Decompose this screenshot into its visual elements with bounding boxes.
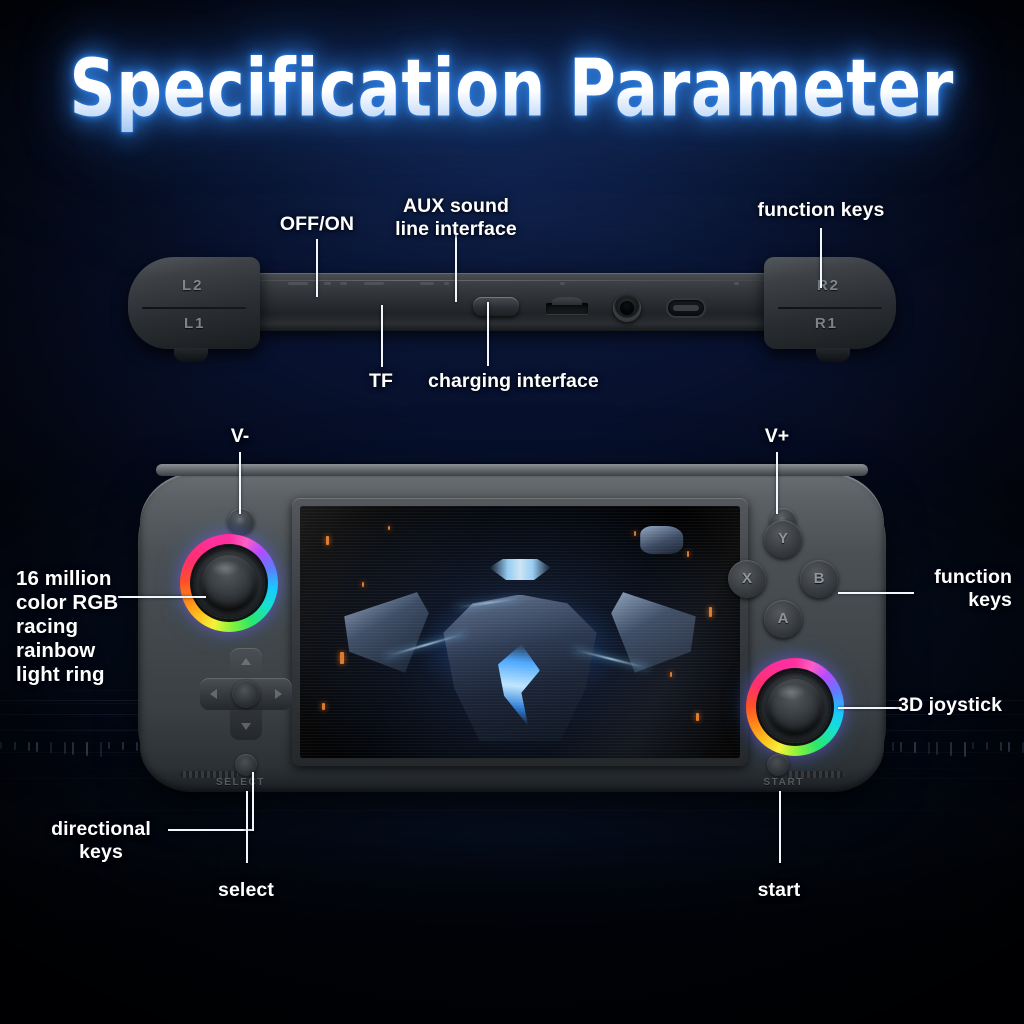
shoulder-seam-left (142, 307, 246, 309)
vent-slot (324, 282, 331, 285)
vent-slot (444, 282, 449, 285)
vent-slot (364, 282, 384, 285)
device-top-edge (156, 464, 868, 476)
callout-start: start (731, 879, 827, 902)
joystick-highlight (776, 684, 806, 700)
artwork-knight (357, 521, 683, 758)
right-joystick-3d[interactable] (746, 658, 844, 756)
aux-audio-jack[interactable] (613, 294, 641, 322)
callout-charging-interface: charging interface (428, 370, 658, 393)
speaker-grille (786, 771, 844, 778)
callout-off-on: OFF/ON (243, 213, 391, 236)
button-a[interactable]: A (764, 600, 802, 638)
dpad-left-icon (210, 689, 217, 699)
dpad-down-icon (241, 723, 251, 730)
leader-aux (455, 234, 457, 302)
vent-slot (420, 282, 434, 285)
dpad-right-icon (275, 689, 282, 699)
dpad-center (232, 680, 260, 708)
device-foot (816, 348, 850, 362)
leader-directional-v (252, 772, 254, 831)
leader-start (779, 791, 781, 863)
button-y[interactable]: Y (764, 520, 802, 558)
button-b[interactable]: B (800, 560, 838, 598)
device-body: Y X B A SELECT START (140, 472, 884, 792)
grip-right (764, 257, 896, 349)
leader-3d-joystick (838, 707, 902, 709)
artwork-pauldron-left (344, 592, 429, 673)
leader-directional-h (168, 829, 254, 831)
callout-tf: TF (344, 370, 418, 393)
callout-3d-joystick: 3D joystick (898, 694, 1024, 717)
volume-down-button[interactable] (228, 508, 254, 534)
leader-tf (381, 305, 383, 367)
vent-slot (560, 282, 565, 285)
leader-func-top (820, 228, 822, 288)
vent-slot (288, 282, 308, 285)
artwork-fist (640, 526, 682, 554)
device-foot (174, 348, 208, 362)
callout-aux-sound-line-interface: AUX sound line interface (370, 195, 542, 241)
callout-directional-keys: directional keys (28, 818, 174, 864)
page-title-wrap: Specification Parameter (0, 52, 1024, 125)
screen-bezel (292, 498, 748, 766)
leader-charging (487, 302, 489, 366)
screen-artwork (300, 506, 740, 758)
page-title: Specification Parameter (70, 43, 954, 135)
vent-slot (340, 282, 347, 285)
joystick-highlight (210, 560, 240, 576)
button-l2-label: L2 (182, 277, 204, 294)
shoulder-seam-right (778, 307, 882, 309)
button-l1-label: L1 (184, 315, 206, 332)
callout-volume-up: V+ (745, 425, 809, 448)
leader-select (246, 791, 248, 863)
callout-rgb-light-ring: 16 million color RGB racing rainbow ligh… (16, 567, 148, 687)
game-screen[interactable] (300, 506, 740, 758)
start-button-label: START (763, 777, 804, 788)
tf-card-slot[interactable] (546, 303, 588, 314)
leader-off-on (316, 239, 318, 297)
callout-volume-down: V- (208, 425, 272, 448)
infographic-canvas: Specification Parameter L2 L1 R2 R1 OFF/… (0, 0, 1024, 1024)
button-x[interactable]: X (728, 560, 766, 598)
handheld-front-view: Y X B A SELECT START (140, 472, 884, 792)
vent-slot (734, 282, 739, 285)
artwork-visor (489, 559, 551, 580)
button-r1-label: R1 (815, 315, 838, 332)
left-joystick-rgb-ring[interactable] (180, 534, 278, 632)
directional-pad[interactable] (200, 648, 292, 740)
callout-function-keys: function keys (862, 566, 1012, 612)
power-switch[interactable] (473, 297, 519, 316)
speaker-grille (180, 771, 238, 778)
callout-select: select (196, 879, 296, 902)
leader-volume-up (776, 452, 778, 514)
usb-c-charging-port[interactable] (668, 300, 704, 316)
dpad-up-icon (241, 658, 251, 665)
callout-function-keys-top: function keys (736, 199, 906, 222)
handheld-top-edge-view: L2 L1 R2 R1 (128, 255, 896, 355)
grip-left (128, 257, 260, 349)
leader-volume-down (239, 452, 241, 514)
select-button-label: SELECT (216, 777, 265, 788)
